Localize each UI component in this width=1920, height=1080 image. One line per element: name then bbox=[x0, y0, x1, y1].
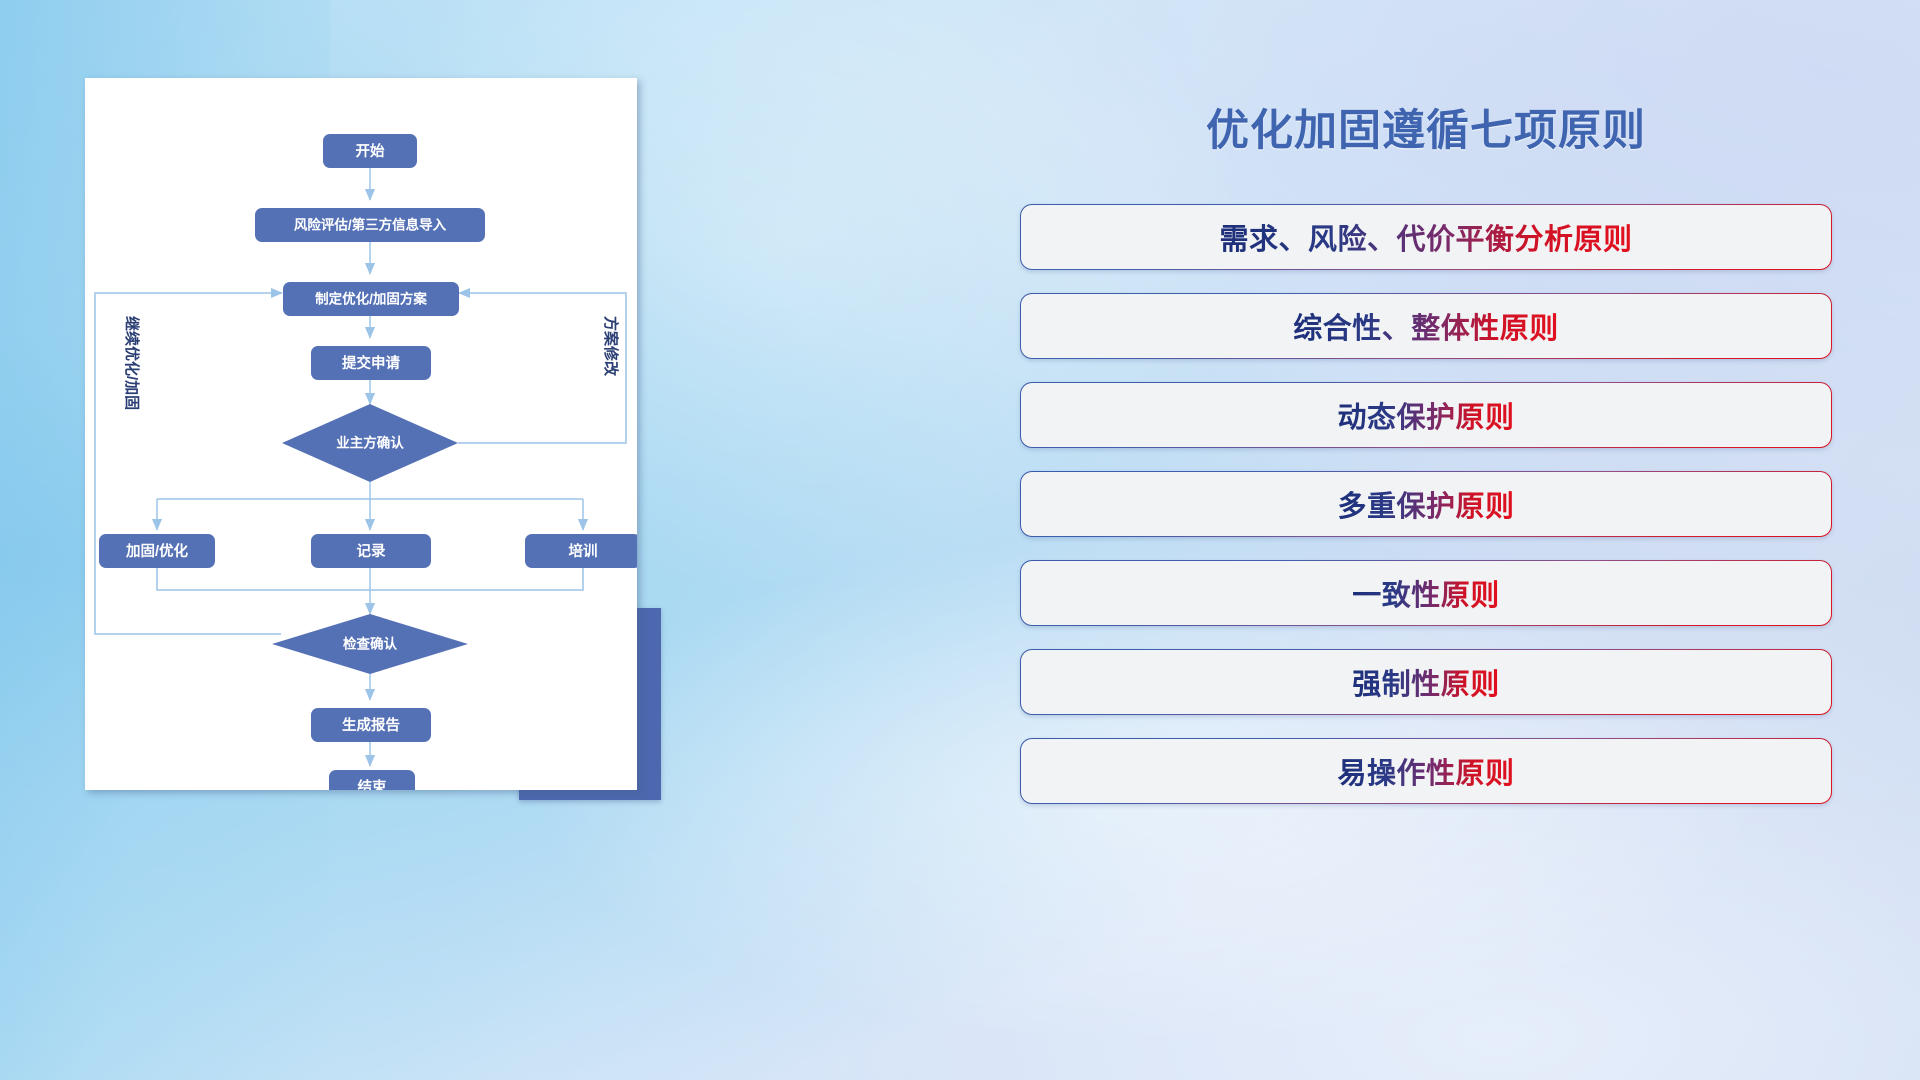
principles-panel: 优化加固遵循七项原则 需求、风险、代价平衡分析原则 综合性、整体性原则 动态保护… bbox=[1020, 96, 1832, 996]
flow-node-owner-confirm-label: 业主方确认 bbox=[336, 435, 404, 451]
principles-title: 优化加固遵循七项原则 bbox=[1020, 96, 1832, 158]
principle-card[interactable]: 强制性原则 bbox=[1020, 649, 1832, 715]
principle-card[interactable]: 多重保护原则 bbox=[1020, 471, 1832, 537]
connector-right-loop-to-plan bbox=[458, 293, 626, 443]
flow-node-risk-assessment-label: 风险评估/第三方信息导入 bbox=[294, 217, 447, 233]
principle-card[interactable]: 动态保护原则 bbox=[1020, 382, 1832, 448]
flowchart-card: 开始 风险评估/第三方信息导入 制定优化/加固方案 提交申请 业主方确认 加固/… bbox=[85, 78, 637, 790]
principle-card-label: 多重保护原则 bbox=[1337, 483, 1514, 525]
flow-side-label-continue-optimize: 继续优化/加固 bbox=[123, 316, 141, 410]
principle-card[interactable]: 易操作性原则 bbox=[1020, 738, 1832, 804]
flow-node-reinforce-label: 加固/优化 bbox=[125, 542, 189, 560]
flow-node-risk-assessment[interactable]: 风险评估/第三方信息导入 bbox=[255, 208, 485, 242]
flow-node-start-label: 开始 bbox=[356, 142, 385, 160]
principle-card[interactable]: 综合性、整体性原则 bbox=[1020, 293, 1832, 359]
flow-node-end[interactable]: 结束 bbox=[329, 770, 415, 790]
flow-node-training-label: 培训 bbox=[569, 542, 598, 560]
flow-node-submit-label: 提交申请 bbox=[342, 354, 400, 372]
flow-node-check-confirm-label: 检查确认 bbox=[343, 636, 397, 652]
principle-card-label: 易操作性原则 bbox=[1337, 750, 1514, 792]
flow-node-reinforce[interactable]: 加固/优化 bbox=[99, 534, 215, 568]
principle-card-label: 强制性原则 bbox=[1352, 661, 1500, 703]
principles-card-list: 需求、风险、代价平衡分析原则 综合性、整体性原则 动态保护原则 多重保护原则 一… bbox=[1020, 204, 1832, 804]
principle-card-label: 一致性原则 bbox=[1352, 572, 1500, 614]
principle-card[interactable]: 需求、风险、代价平衡分析原则 bbox=[1020, 204, 1832, 270]
flow-side-label-plan-revision: 方案修改 bbox=[602, 316, 620, 377]
flow-node-record-label: 记录 bbox=[357, 543, 386, 560]
flow-node-submit[interactable]: 提交申请 bbox=[311, 346, 431, 380]
principle-card-label: 需求、风险、代价平衡分析原则 bbox=[1219, 216, 1632, 258]
flow-node-report-label: 生成报告 bbox=[342, 716, 400, 734]
flow-node-check-confirm[interactable]: 检查确认 bbox=[272, 614, 468, 674]
principle-card[interactable]: 一致性原则 bbox=[1020, 560, 1832, 626]
flow-node-record[interactable]: 记录 bbox=[311, 534, 431, 568]
principle-card-label: 综合性、整体性原则 bbox=[1293, 305, 1559, 347]
flow-node-owner-confirm[interactable]: 业主方确认 bbox=[282, 404, 458, 482]
flow-node-start[interactable]: 开始 bbox=[323, 134, 417, 168]
flow-node-plan[interactable]: 制定优化/加固方案 bbox=[283, 282, 459, 316]
principle-card-label: 动态保护原则 bbox=[1337, 394, 1514, 436]
flow-node-report[interactable]: 生成报告 bbox=[311, 708, 431, 742]
flowchart-diagram: 开始 风险评估/第三方信息导入 制定优化/加固方案 提交申请 业主方确认 加固/… bbox=[85, 78, 637, 790]
flow-node-training[interactable]: 培训 bbox=[525, 534, 637, 568]
flow-node-plan-label: 制定优化/加固方案 bbox=[315, 291, 427, 307]
flow-node-end-label: 结束 bbox=[358, 778, 387, 790]
